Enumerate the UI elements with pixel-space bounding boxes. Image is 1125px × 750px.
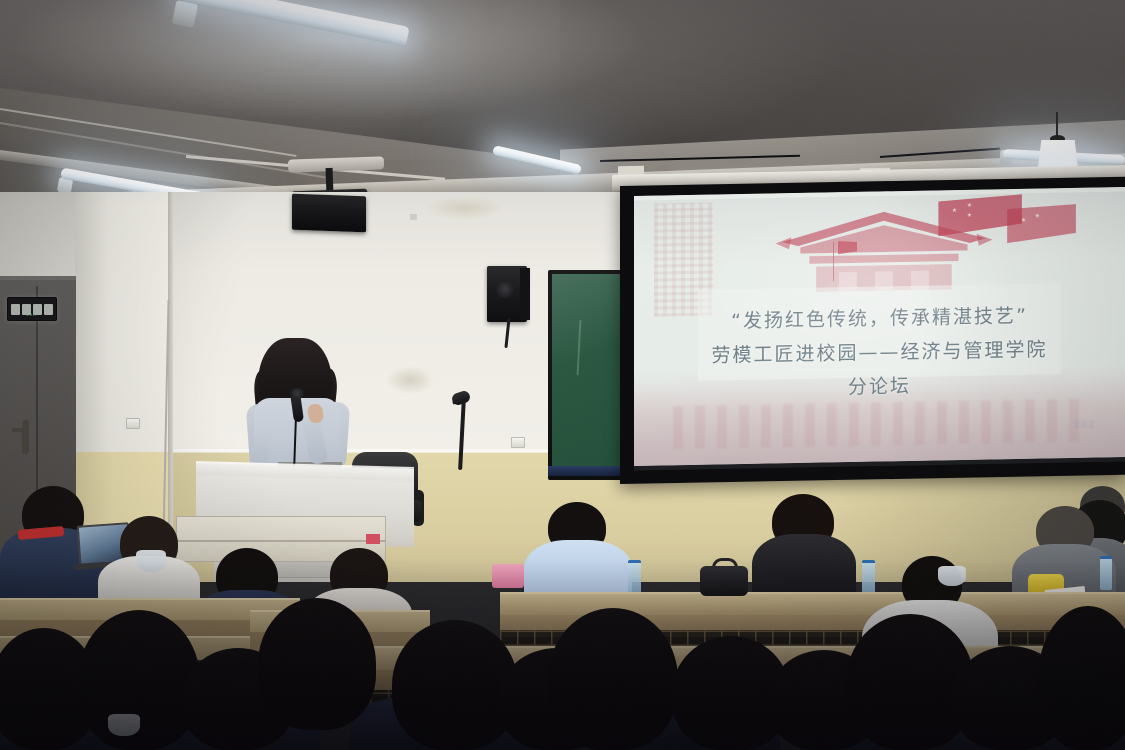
wall-speaker-right-side [520,268,530,320]
water-bottle [862,560,875,594]
wall-stain [425,196,505,220]
wall-fitting [410,214,417,220]
light-switch-plate[interactable] [126,418,140,429]
handbag [700,566,748,596]
audience-head-front [548,608,678,750]
door-handle[interactable] [22,420,29,454]
speaker-cone-icon [496,280,514,298]
face-mask [136,550,166,572]
exit-sign-label: EXIT [7,312,57,317]
wall-stain [386,366,434,394]
wall-speaker-left-grille [296,205,366,231]
water-bottle [628,560,641,594]
light-switch-plate[interactable] [511,437,525,448]
cabinet-seam [176,540,386,542]
tube-light-cap [172,0,198,28]
face-mask [938,566,966,586]
emergency-exit-sign [7,297,57,321]
audience-head-front [258,598,376,730]
microphone-head-icon [290,388,304,399]
water-bottle [1100,556,1112,590]
lecture-hall-photo: EXIT [0,0,1125,750]
audience-head-front [1038,606,1125,750]
screen-vignette [634,192,1125,471]
door-lever-icon[interactable] [12,428,26,432]
face-mask [108,714,140,736]
pink-folder [492,564,524,588]
cabinet-label [366,534,380,544]
